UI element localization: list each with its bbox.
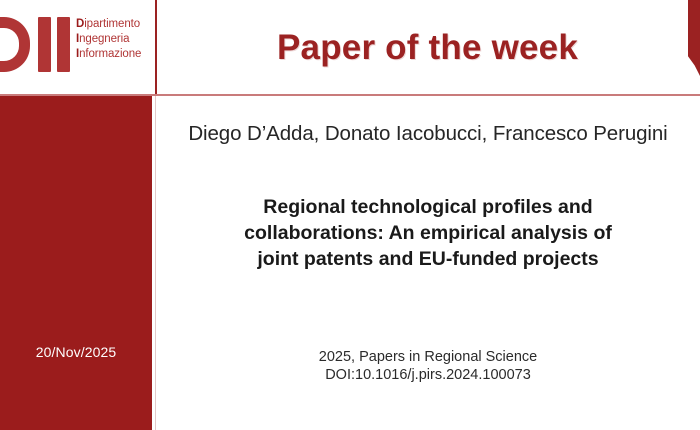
authors-line: Diego D’Adda, Donato Iacobucci, Francesc… [156,122,700,146]
logo-line-informazione: Informazione [76,47,152,62]
logo-line-1-rest: ipartimento [84,18,140,30]
slide-header: Dipartimento Ingegneria Informazione Pap… [0,0,700,95]
slide-content: Diego D’Adda, Donato Iacobucci, Francesc… [156,96,700,430]
paper-title-line: joint patents and EU-funded projects [174,246,682,272]
publication-date-label: 20/Nov/2025 [0,344,152,360]
journal-line: 2025, Papers in Regional Science [156,348,700,366]
paper-title: Regional technological profiles and coll… [174,194,682,272]
logo-line-2-rest: ngegneria [79,33,129,45]
logo-line-ingegneria: Ingegneria [76,32,152,47]
paper-title-line: collaborations: An empirical analysis of [174,220,682,246]
doi-line: DOI:10.1016/j.pirs.2024.100073 [156,366,700,384]
logo-letter-i-bar-2 [57,17,70,72]
logo-line-3-rest: nformazione [79,48,141,60]
paper-title-line: Regional technological profiles and [174,194,682,220]
logo-line-dipartimento: Dipartimento [76,17,152,32]
dii-logo-icon [0,17,72,72]
left-red-sidebar: 20/Nov/2025 [0,96,152,430]
paper-of-the-week-slide: Dipartimento Ingegneria Informazione Pap… [0,0,700,430]
logo-line-1-capital: D [76,18,84,30]
logo-letter-d-shape [0,17,30,72]
logo-letter-i-bar-1 [38,17,51,72]
publication-info: 2025, Papers in Regional Science DOI:10.… [156,348,700,384]
page-title: Paper of the week [155,0,700,95]
department-logo-text: Dipartimento Ingegneria Informazione [76,17,152,62]
